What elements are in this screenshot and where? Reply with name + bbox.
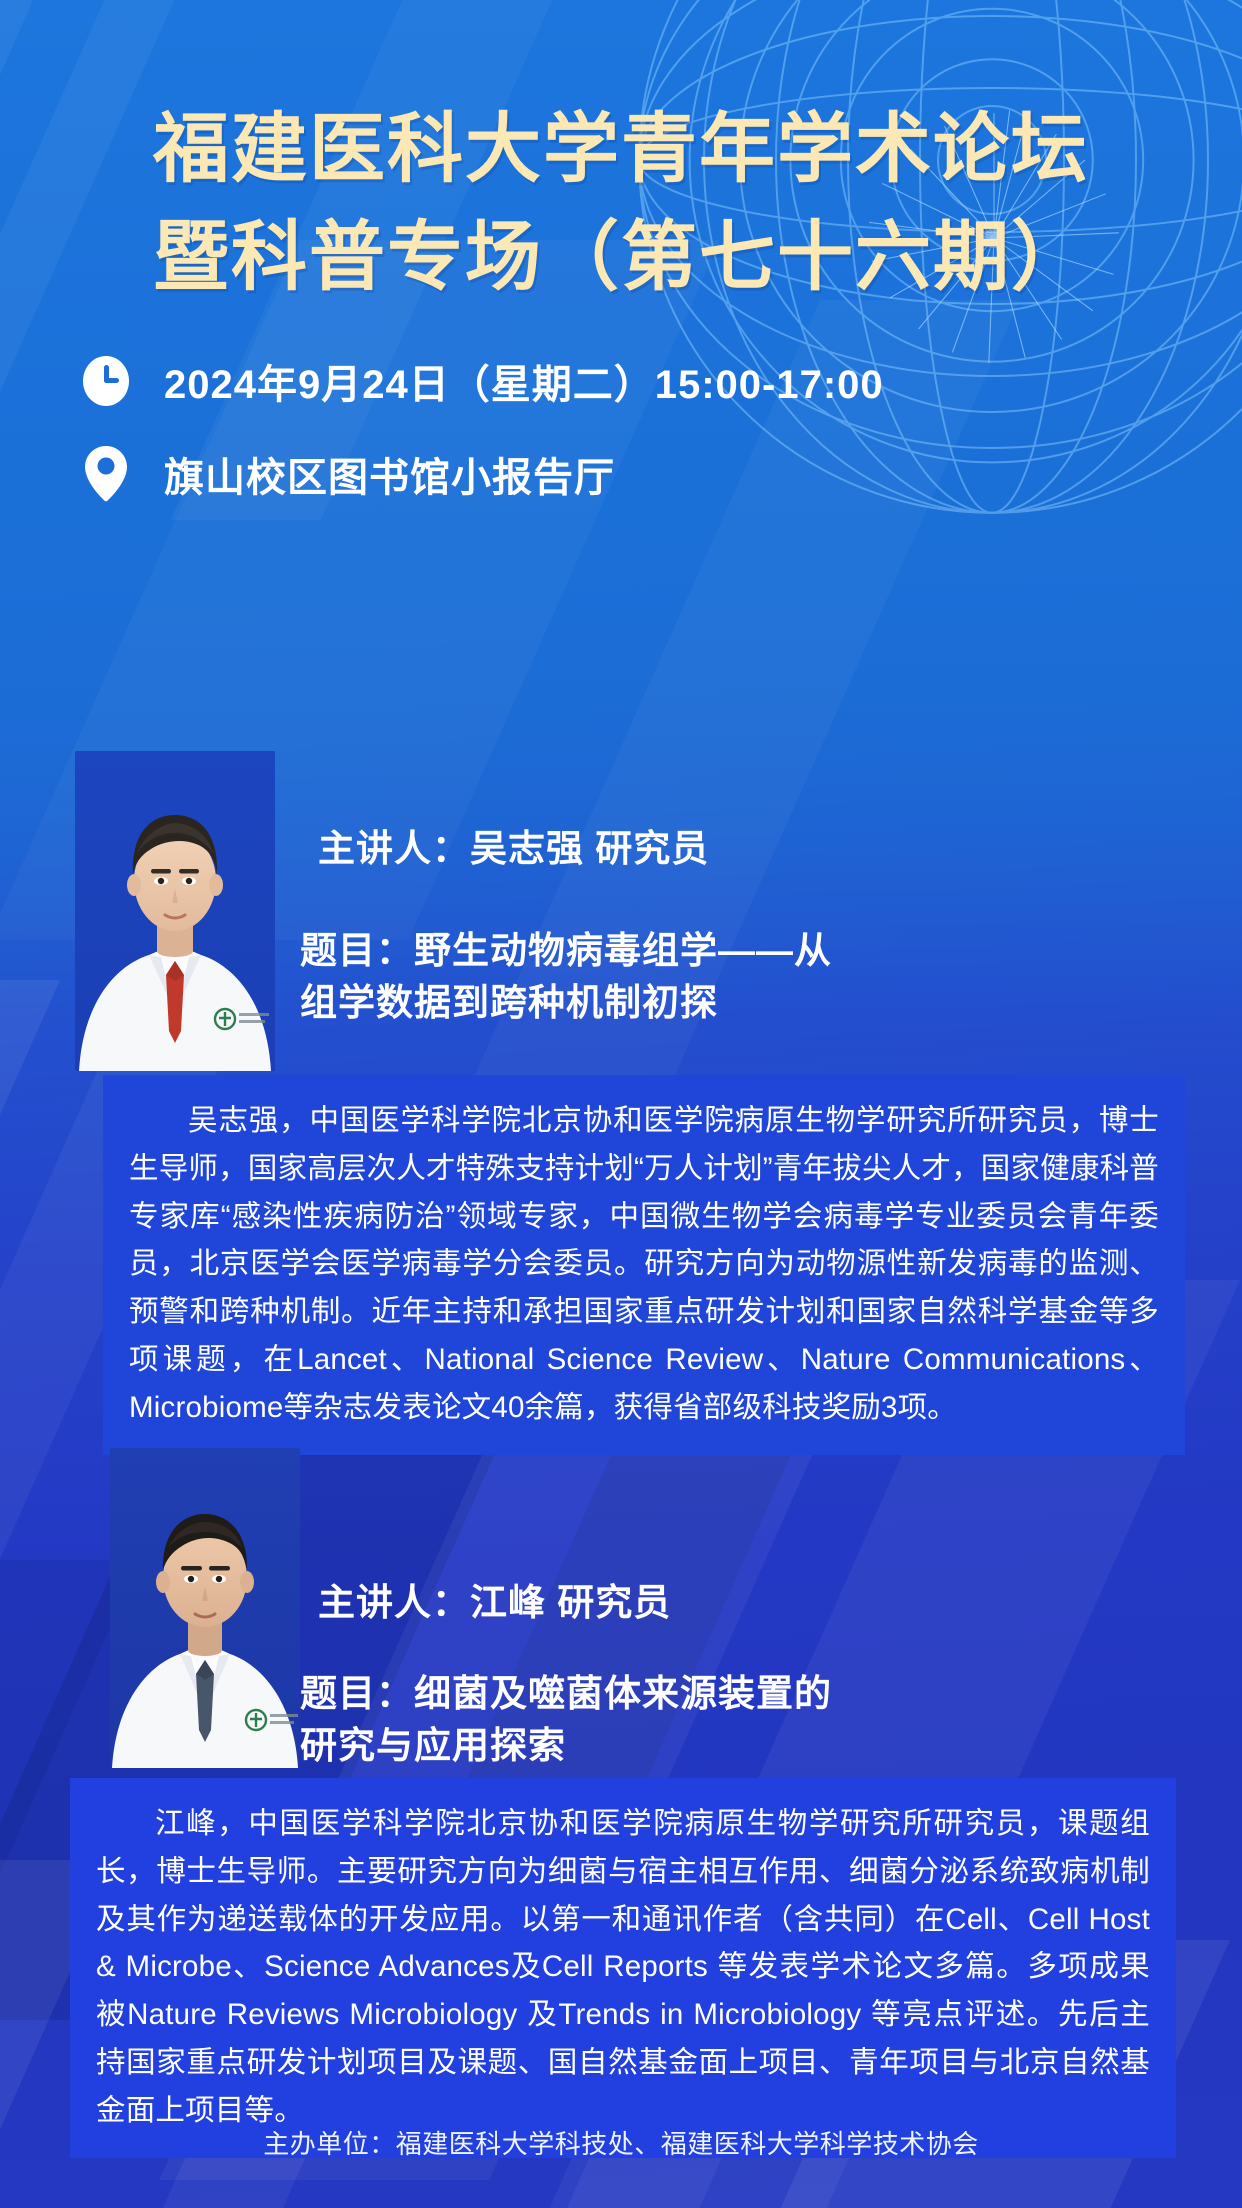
- speaker-1-portrait: [75, 751, 275, 1071]
- speaker-1-headings: 主讲人：吴志强 研究员: [318, 818, 858, 872]
- event-poster: 福建医科大学青年学术论坛 暨科普专场（第七十六期） 2024年9月24日（星期二…: [0, 0, 1242, 2208]
- event-location-text: 旗山校区图书馆小报告厅: [164, 445, 615, 503]
- clock-icon: [78, 353, 134, 409]
- speaker-2-bio: 江峰，中国医学科学院北京协和医学院病原生物学研究所研究员，课题组长，博士生导师。…: [70, 1778, 1176, 2158]
- speaker-2-topic-block: 题目：细菌及噬菌体来源装置的研究与应用探索: [300, 1668, 860, 1772]
- speaker-2-headings: 主讲人：江峰 研究员: [318, 1572, 858, 1626]
- speaker-1-topic: 题目：野生动物病毒组学——从组学数据到跨种机制初探: [300, 925, 860, 1029]
- title-line-1: 福建医科大学青年学术论坛: [0, 96, 1242, 204]
- speaker-1-name: 主讲人：吴志强 研究员: [318, 818, 858, 872]
- event-date-text: 2024年9月24日（星期二）15:00-17:00: [164, 352, 884, 410]
- location-pin-icon: [78, 443, 134, 505]
- event-date-row: 2024年9月24日（星期二）15:00-17:00: [78, 352, 884, 410]
- speaker-2-topic: 题目：细菌及噬菌体来源装置的研究与应用探索: [300, 1668, 860, 1772]
- speaker-1-topic-block: 题目：野生动物病毒组学——从组学数据到跨种机制初探: [300, 925, 860, 1029]
- event-location-row: 旗山校区图书馆小报告厅: [78, 443, 615, 505]
- speaker-2-portrait: [110, 1448, 300, 1768]
- title-line-2: 暨科普专场（第七十六期）: [0, 204, 1242, 312]
- speaker-2-name: 主讲人：江峰 研究员: [318, 1572, 858, 1626]
- organizer-footer: 主办单位：福建医科大学科技处、福建医科大学科学技术协会: [0, 2124, 1242, 2161]
- speaker-1-bio: 吴志强，中国医学科学院北京协和医学院病原生物学研究所研究员，博士生导师，国家高层…: [103, 1075, 1185, 1455]
- page-title: 福建医科大学青年学术论坛 暨科普专场（第七十六期）: [0, 96, 1242, 312]
